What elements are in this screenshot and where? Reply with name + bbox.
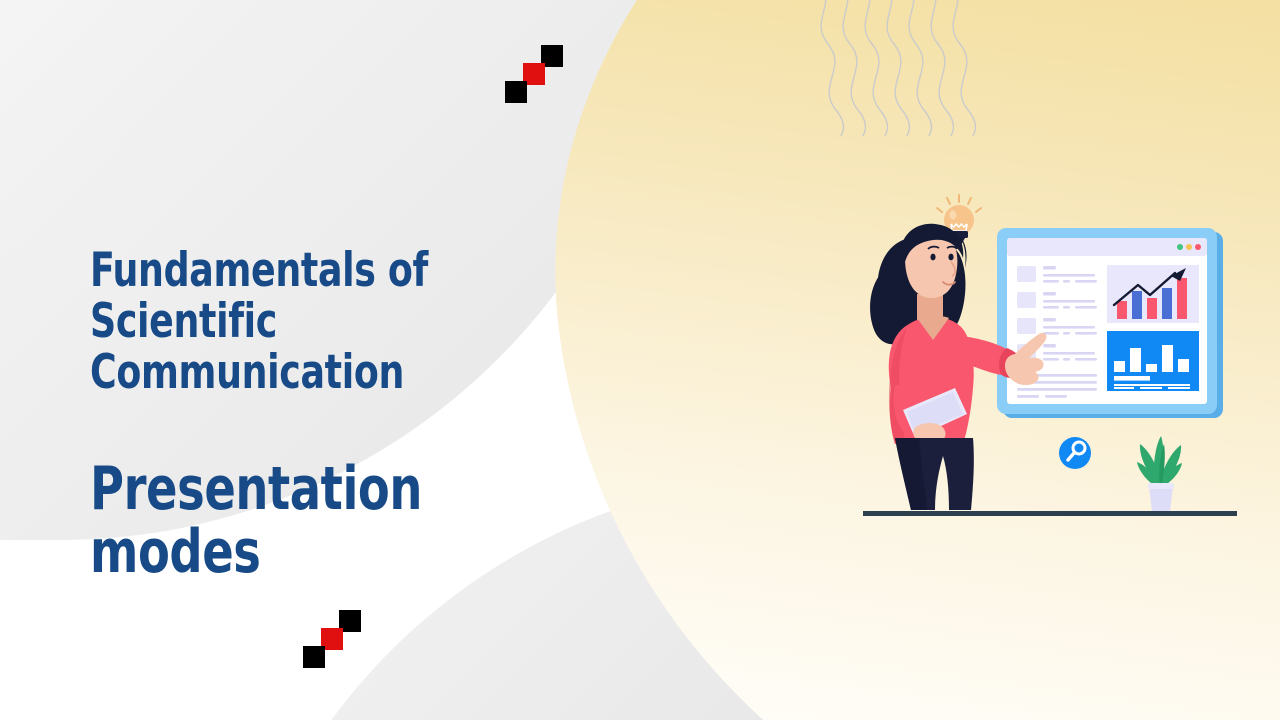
chart-bar [1132, 291, 1142, 319]
page-title: Fundamentals of Scientific Communication [90, 246, 606, 398]
page-subtitle: Presentation modes [90, 458, 606, 584]
wavy-lines-decoration [806, 0, 996, 136]
red-dot [1195, 244, 1201, 250]
top-squares [505, 45, 575, 105]
panel-bar [1130, 348, 1141, 372]
panel-bar [1114, 361, 1125, 372]
green-dot [1177, 244, 1183, 250]
bottom-squares [303, 610, 373, 670]
eye [948, 254, 953, 261]
floor-line [863, 511, 1237, 516]
search-icon [1059, 437, 1091, 469]
panel-bar [1178, 359, 1189, 372]
yellow-dot [1186, 244, 1192, 250]
chart-bar [1177, 278, 1187, 319]
black-square [303, 646, 325, 668]
panel-bar [1162, 345, 1173, 372]
chart-bar [1147, 298, 1157, 319]
presentation-board [997, 228, 1223, 418]
eye [930, 254, 935, 261]
chart-bar [1117, 301, 1127, 319]
title-block: Fundamentals of Scientific Communication… [90, 246, 690, 584]
chart-bar [1162, 288, 1172, 319]
board-blue-panel [1107, 331, 1199, 391]
black-square [505, 81, 527, 103]
board-bar-chart [1107, 265, 1199, 323]
illustration-woman-presenting [855, 188, 1255, 533]
potted-plant [1137, 436, 1182, 512]
panel-bar [1146, 364, 1157, 372]
slide-canvas: Fundamentals of Scientific Communication… [0, 0, 1280, 720]
